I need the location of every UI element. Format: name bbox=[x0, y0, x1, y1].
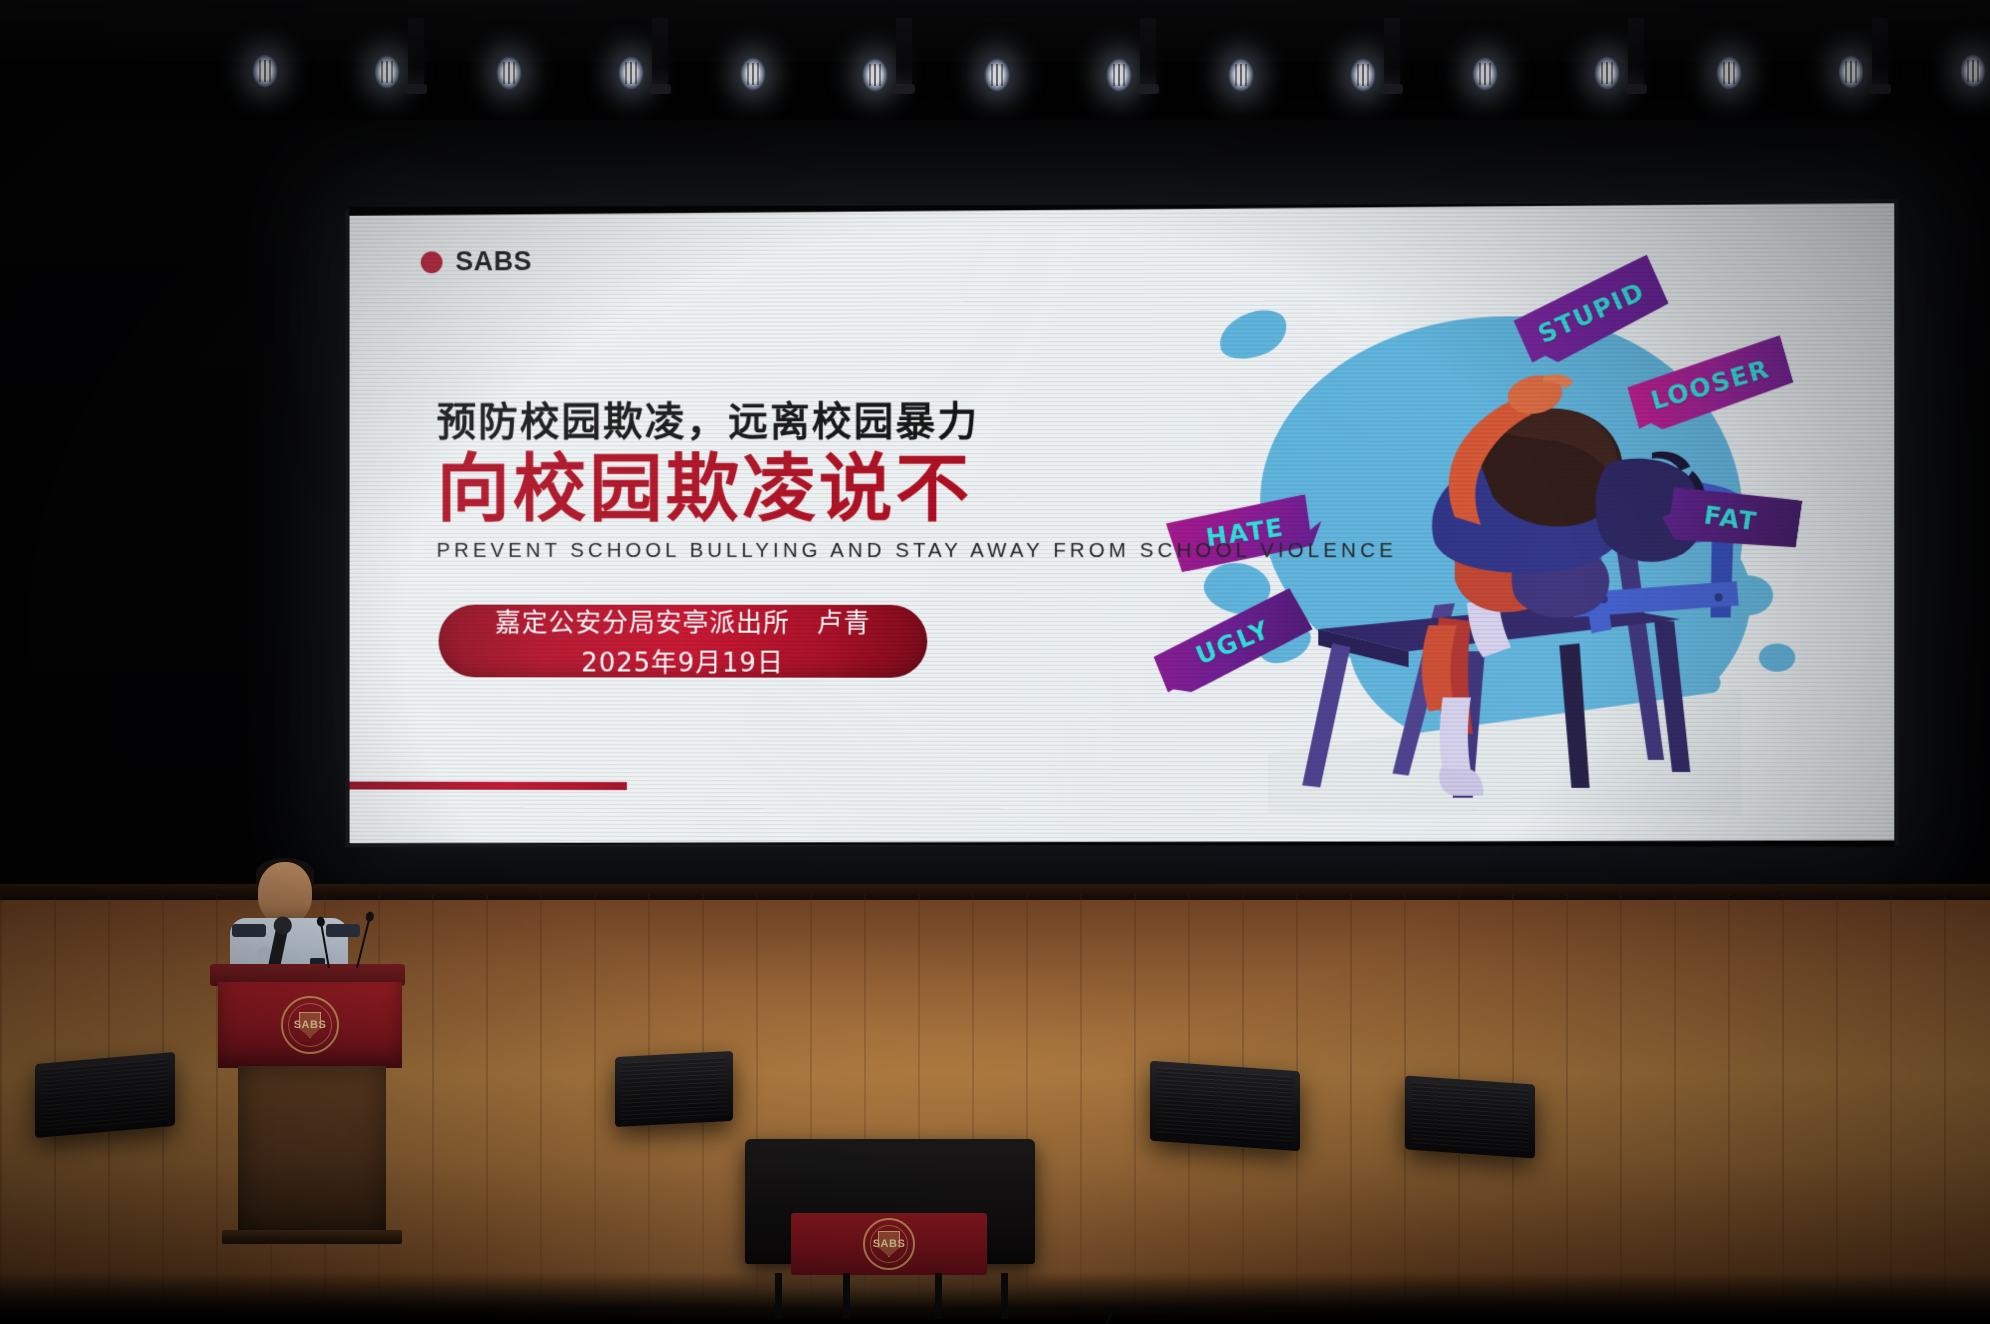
ceiling-light-fixture bbox=[408, 18, 424, 88]
presenter-org-and-name: 嘉定公安分局安亭派出所 卢青 bbox=[495, 603, 871, 640]
tag-label: FAT bbox=[1702, 500, 1759, 536]
speaker-grill bbox=[621, 1057, 727, 1121]
monitor-leg bbox=[775, 1273, 782, 1319]
ceiling-lamp bbox=[1716, 56, 1742, 90]
ceiling-lamp bbox=[1106, 58, 1132, 92]
ceiling-light-fixture bbox=[1140, 18, 1156, 88]
presentation-slide: SABS 预防校园欺凌，远离校园暴力 向校园欺凌说不 PREVENT SCHOO… bbox=[350, 203, 1895, 847]
speaker-grill bbox=[1411, 1082, 1529, 1152]
ceiling-light-fixture bbox=[1872, 18, 1888, 88]
crest-label: SABS bbox=[294, 1019, 327, 1031]
slide-accent-rule bbox=[350, 782, 627, 790]
slide-logo-label: SABS bbox=[455, 246, 532, 277]
red-dot-icon bbox=[421, 251, 443, 273]
speaker-grill bbox=[41, 1058, 169, 1131]
monitor-crest-panel: SABS bbox=[791, 1213, 987, 1275]
presenter-head bbox=[258, 862, 312, 924]
monitor-stand-legs bbox=[769, 1273, 1013, 1319]
crest-label: SABS bbox=[873, 1238, 906, 1250]
speaker-cabinet-right bbox=[1150, 1061, 1300, 1151]
ceiling-lamp bbox=[1838, 55, 1864, 89]
ceiling-lamp bbox=[1228, 58, 1254, 92]
blue-blob-accent-1 bbox=[1213, 303, 1293, 367]
monitor-leg bbox=[935, 1273, 942, 1319]
speaker-cabinet-center bbox=[615, 1051, 733, 1127]
ceiling-truss bbox=[0, 0, 1990, 62]
podium-front-panel: SABS bbox=[218, 982, 402, 1068]
ceiling-light-fixture bbox=[652, 18, 668, 88]
school-crest-emblem: SABS bbox=[281, 996, 339, 1054]
auditorium-stage-scene: SABS 预防校园欺凌，远离校园暴力 向校园欺凌说不 PREVENT SCHOO… bbox=[0, 0, 1990, 1324]
speaker-cabinet-left bbox=[35, 1052, 175, 1138]
ceiling-lamp bbox=[252, 54, 278, 88]
slide-heading-block: 预防校园欺凌，远离校园暴力 向校园欺凌说不 PREVENT SCHOOL BUL… bbox=[437, 389, 1397, 563]
speaker-cabinet-far-right bbox=[1405, 1075, 1535, 1158]
ceiling-lamp bbox=[740, 57, 766, 91]
presenter-epaulette-right bbox=[326, 924, 360, 937]
ceiling-lamp bbox=[862, 58, 888, 92]
ceiling-lamp bbox=[984, 58, 1010, 92]
ceiling-lamp bbox=[1350, 58, 1376, 92]
ceiling-light-fixture bbox=[1384, 18, 1400, 88]
podium-base bbox=[222, 1230, 402, 1244]
led-projection-screen: SABS 预防校园欺凌，远离校园暴力 向校园欺凌说不 PREVENT SCHOO… bbox=[350, 203, 1895, 847]
slide-subtitle-en: PREVENT SCHOOL BULLYING AND STAY AWAY FR… bbox=[437, 539, 1397, 563]
ceiling-lamp bbox=[1594, 56, 1620, 90]
ceiling-lamp bbox=[1472, 57, 1498, 91]
slide-title-cn: 向校园欺凌说不 bbox=[437, 451, 1397, 529]
monitor-cable bbox=[993, 1309, 1113, 1324]
monitor-leg bbox=[843, 1273, 850, 1319]
slide-brand-logo: SABS bbox=[421, 246, 532, 277]
podium-column bbox=[238, 1066, 386, 1234]
presenter-epaulette-left bbox=[232, 924, 266, 937]
monitor-school-crest: SABS bbox=[863, 1218, 915, 1270]
tag-label: STUPID bbox=[1533, 276, 1649, 349]
ceiling-lighting-rig bbox=[0, 0, 1990, 140]
presenter-info-badge: 嘉定公安分局安亭派出所 卢青 2025年9月19日 bbox=[439, 605, 928, 678]
ceiling-lamp bbox=[496, 56, 522, 90]
ceiling-lamp bbox=[618, 56, 644, 90]
ceiling-light-fixture bbox=[1628, 18, 1644, 88]
presentation-date: 2025年9月19日 bbox=[581, 643, 783, 680]
ceiling-lamp bbox=[1960, 54, 1986, 88]
speaker-grill bbox=[1156, 1067, 1294, 1145]
ceiling-light-fixture bbox=[896, 18, 912, 88]
ceiling-lamp bbox=[374, 55, 400, 89]
slide-subtitle-cn: 预防校园欺凌，远离校园暴力 bbox=[437, 389, 1397, 448]
